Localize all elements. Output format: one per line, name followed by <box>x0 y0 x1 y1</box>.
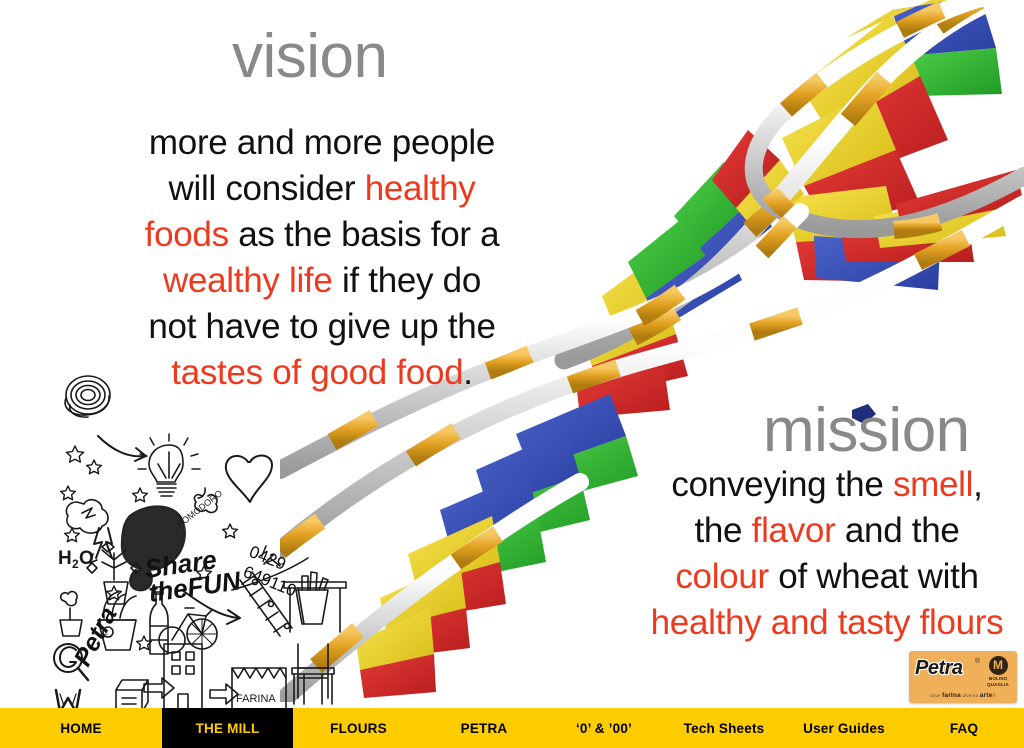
svg-text:0429: 0429 <box>247 542 289 574</box>
svg-text:POMODORO: POMODORO <box>175 488 224 529</box>
svg-text:H: H <box>58 548 72 569</box>
nav-item-home[interactable]: HOME <box>0 708 162 748</box>
text-line: tastes of good food. <box>98 350 546 396</box>
nav-item-the-mill[interactable]: THE MILL <box>162 708 293 748</box>
nav-item-user-guides[interactable]: User Guides <box>784 708 904 748</box>
highlighted-phrase: tastes of good food <box>171 353 463 392</box>
nav-item-0-00[interactable]: ‘0’ & ’00’ <box>544 708 664 748</box>
seal-monogram: M <box>989 656 1008 675</box>
nav-item-tech-sheets[interactable]: Tech Sheets <box>664 708 784 748</box>
registered-trademark-icon: ® <box>975 658 980 665</box>
petra-logo[interactable]: Petra ® M MOLINO QUAGLIA dove farina div… <box>909 651 1017 703</box>
main-navigation-bar: HOMETHE MILLFLOURSPETRA‘0’ & ’00’Tech Sh… <box>0 708 1024 748</box>
text-segment: , <box>973 465 982 504</box>
svg-text:c: c <box>105 631 108 637</box>
nav-item-label: HOME <box>60 721 101 736</box>
nav-item-label: Tech Sheets <box>684 721 765 736</box>
text-line: will consider healthy <box>98 166 546 212</box>
text-segment: will consider <box>169 169 365 208</box>
tagline-pre: dove <box>930 693 942 698</box>
petra-wordmark: Petra <box>915 657 963 680</box>
nav-item-label: THE MILL <box>196 721 260 736</box>
text-line: healthy and tasty flours <box>630 600 1024 646</box>
petra-tagline: dove farina diventa arte® <box>909 692 1017 699</box>
seal-line-2: QUAGLIA <box>984 682 1012 687</box>
tagline-farina: farina <box>942 692 961 699</box>
text-line: not have to give up the <box>98 304 546 350</box>
nav-item-label: PETRA <box>461 721 508 736</box>
highlighted-phrase: colour <box>675 557 769 596</box>
highlighted-phrase: foods <box>145 215 229 254</box>
text-segment: not have to give up the <box>148 307 495 346</box>
text-segment: the <box>694 511 751 550</box>
slide-canvas: POMODORO H 2 O <box>0 0 1024 748</box>
svg-text:O: O <box>79 548 94 569</box>
svg-text:Share: Share <box>143 544 219 584</box>
nav-item-label: ‘0’ & ’00’ <box>576 721 632 736</box>
svg-text:649110: 649110 <box>241 562 300 600</box>
text-line: conveying the smell, <box>630 462 1024 508</box>
molino-quaglia-seal-icon: M MOLINO QUAGLIA <box>984 656 1012 688</box>
highlighted-phrase: healthy and tasty flours <box>651 603 1004 642</box>
text-line: colour of wheat with <box>630 554 1024 600</box>
highlighted-phrase: healthy <box>365 169 476 208</box>
svg-text:theFUN: theFUN <box>147 565 244 608</box>
text-segment: of wheat with <box>769 557 979 596</box>
tagline-arte: arte <box>980 692 993 699</box>
nav-item-petra[interactable]: PETRA <box>424 708 544 748</box>
text-segment: more and more people <box>149 123 495 162</box>
highlighted-phrase: wealthy life <box>163 261 333 300</box>
svg-text:2: 2 <box>72 557 79 571</box>
text-line: foods as the basis for a <box>98 212 546 258</box>
highlighted-phrase: smell <box>893 465 973 504</box>
text-segment: as the basis for a <box>229 215 500 254</box>
nav-item-faq[interactable]: FAQ <box>904 708 1024 748</box>
doodle-collage-illustration: POMODORO H 2 O <box>52 368 352 713</box>
text-line: the flavor and the <box>630 508 1024 554</box>
svg-text:FARINA: FARINA <box>236 693 276 705</box>
text-segment: . <box>463 353 472 392</box>
mission-paragraph: conveying the smell,the flavor and theco… <box>630 462 1024 646</box>
seal-line-1: MOLINO <box>984 676 1012 681</box>
nav-item-label: User Guides <box>803 721 885 736</box>
tagline-reg: ® <box>992 693 996 698</box>
svg-text:Petra: Petra <box>69 602 123 670</box>
nav-item-label: FAQ <box>950 721 978 736</box>
highlighted-phrase: flavor <box>752 511 836 550</box>
text-segment: conveying the <box>671 465 893 504</box>
nav-item-label: FLOURS <box>330 721 387 736</box>
text-segment: and the <box>835 511 959 550</box>
mission-heading: mission <box>763 400 970 462</box>
text-line: more and more people <box>98 120 546 166</box>
text-line: wealthy life if they do <box>98 258 546 304</box>
nav-item-flours[interactable]: FLOURS <box>293 708 424 748</box>
vision-heading: vision <box>232 26 388 88</box>
tagline-mid: diventa <box>961 693 980 698</box>
vision-paragraph: more and more peoplewill consider health… <box>98 120 546 396</box>
text-segment: if they do <box>333 261 481 300</box>
